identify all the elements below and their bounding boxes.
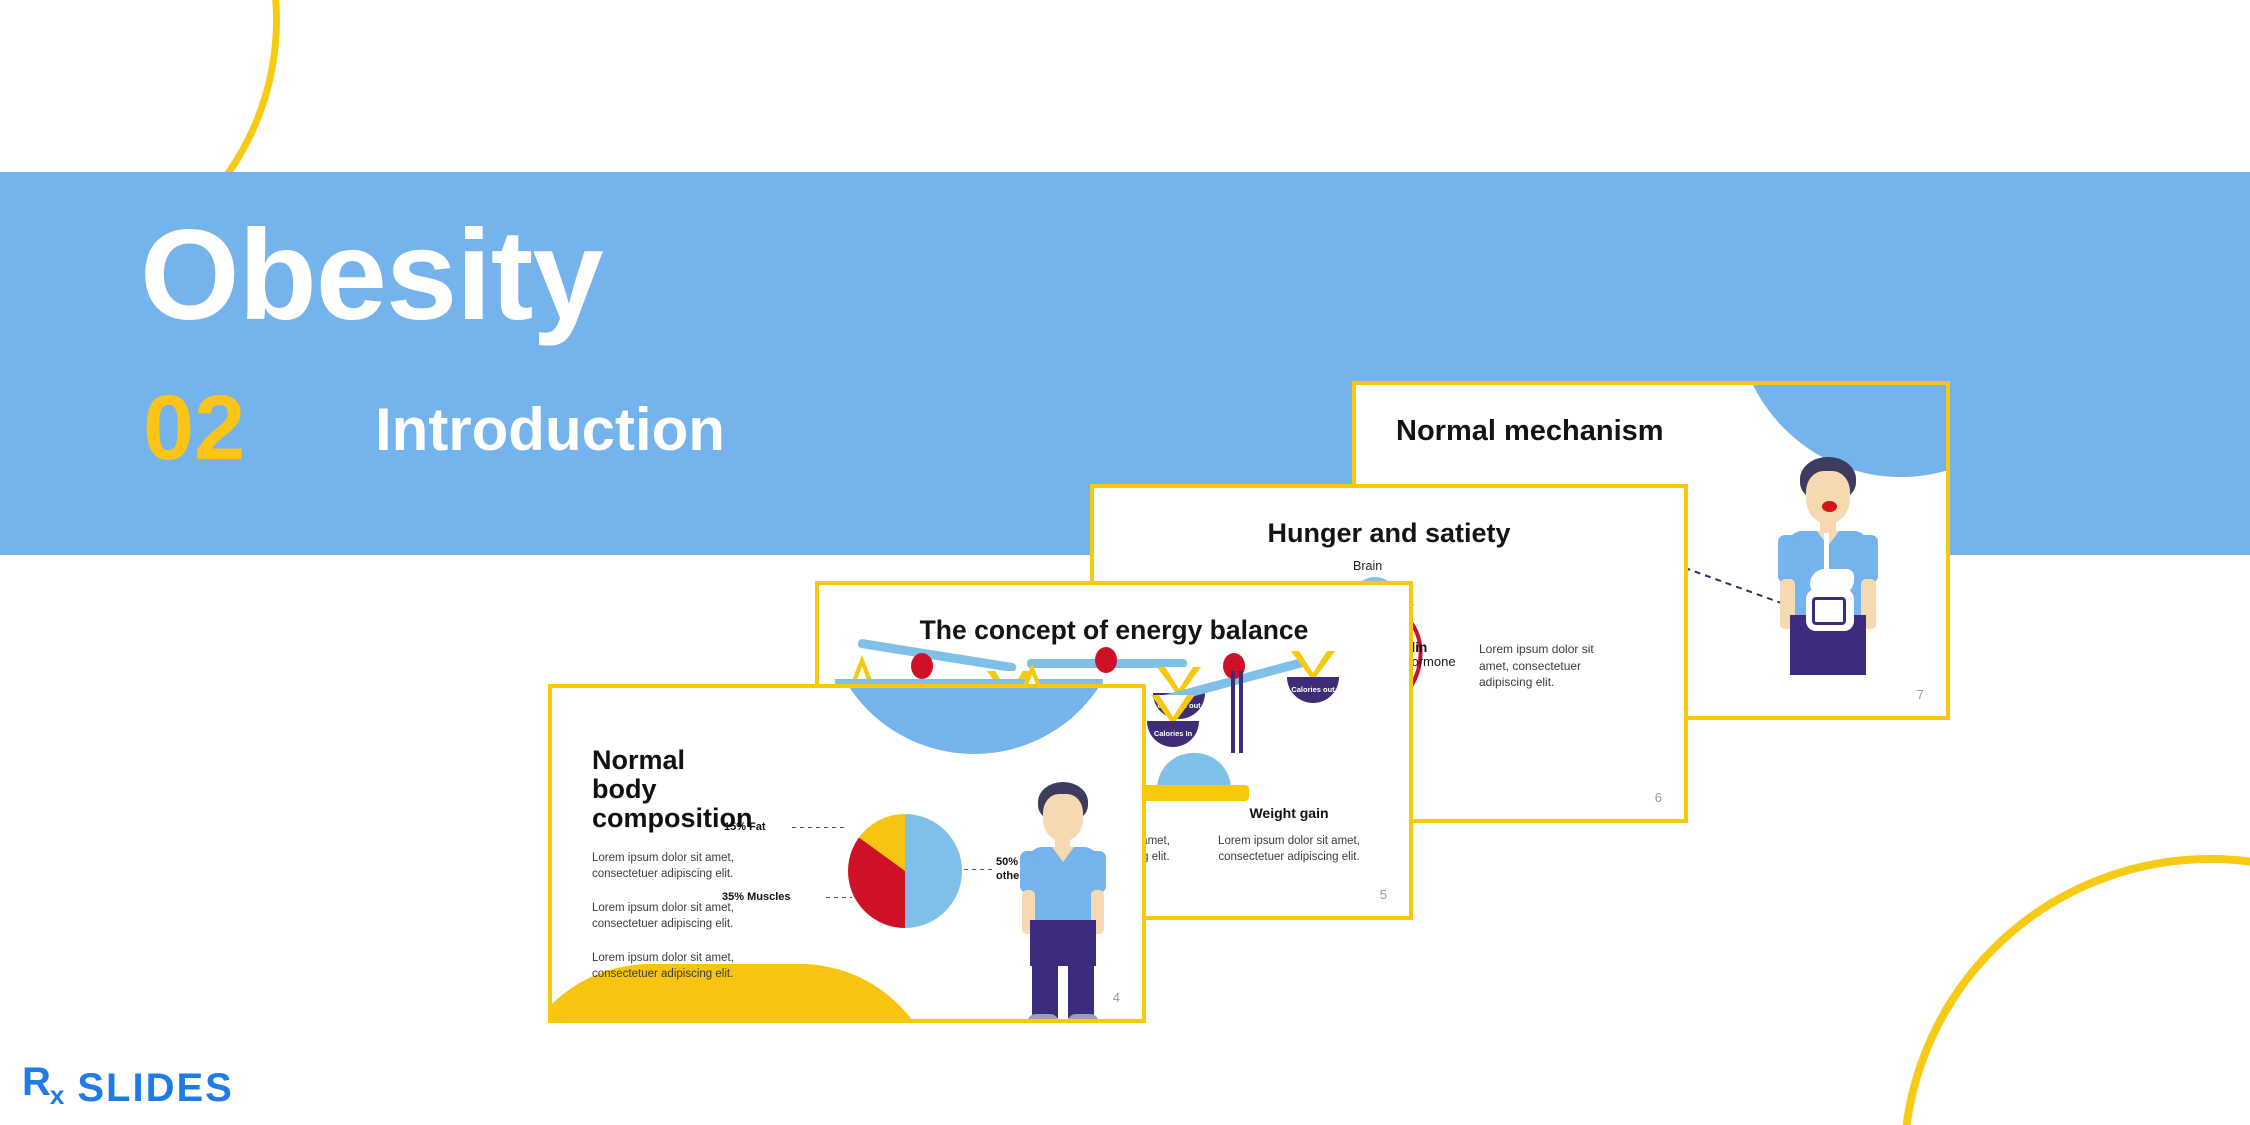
section-number: 02	[143, 382, 245, 474]
column-label-weight-gain: Weight gain	[1199, 805, 1379, 821]
slide-title: The concept of energy balance	[819, 615, 1409, 646]
slide-page-number: 6	[1655, 790, 1662, 805]
column-paragraph-weight-gain: Lorem ipsum dolor sit amet, consectetuer…	[1201, 833, 1377, 865]
scale-stand	[1157, 753, 1231, 789]
rxslides-logo[interactable]: Rx SLIDES	[22, 1060, 234, 1111]
pie-leader-muscles	[826, 897, 852, 898]
pan-calories-out: Calories out	[1287, 677, 1339, 703]
section-label: Introduction	[375, 400, 725, 460]
slide-paragraph: Lorem ipsum dolor sit amet, consectetuer…	[1479, 641, 1599, 691]
slide-paragraph-1: Lorem ipsum dolor sit amet, consectetuer…	[592, 850, 764, 883]
brain-label: Brain	[1353, 559, 1382, 573]
page-title: Obesity	[140, 212, 603, 340]
scale-base	[1139, 785, 1249, 801]
pie-leader-other	[964, 869, 992, 870]
decorative-ring-bottom-right	[1900, 855, 2250, 1125]
slide-page-number: 5	[1380, 887, 1387, 902]
body-composition-pie-chart	[848, 814, 962, 928]
pan-calories-in: Calories In	[1147, 721, 1199, 747]
slide-paragraph-3: Lorem ipsum dolor sit amet, consectetuer…	[592, 950, 764, 983]
presentation-preview-canvas: Obesity 02 Introduction Normal mechanism…	[0, 0, 2250, 1125]
logo-rx-mark: Rx	[22, 1060, 63, 1111]
slide-page-number: 7	[1917, 687, 1924, 702]
pie-label-muscles: 35% Muscles	[722, 891, 790, 903]
slide-paragraph-2: Lorem ipsum dolor sit amet, consectetuer…	[592, 900, 764, 933]
pie-label-fat: 15% Fat	[724, 821, 766, 833]
slide-page-number: 4	[1113, 990, 1120, 1005]
decorative-blue-arc	[824, 684, 1124, 754]
slide-title: Hunger and satiety	[1094, 518, 1684, 549]
logo-wordmark: SLIDES	[77, 1066, 233, 1111]
slide-card-normal-body-composition[interactable]: Normal body composition Lorem ipsum dolo…	[548, 684, 1146, 1023]
slide-title: Normal mechanism	[1356, 415, 1946, 448]
pie-leader-fat	[792, 827, 848, 828]
